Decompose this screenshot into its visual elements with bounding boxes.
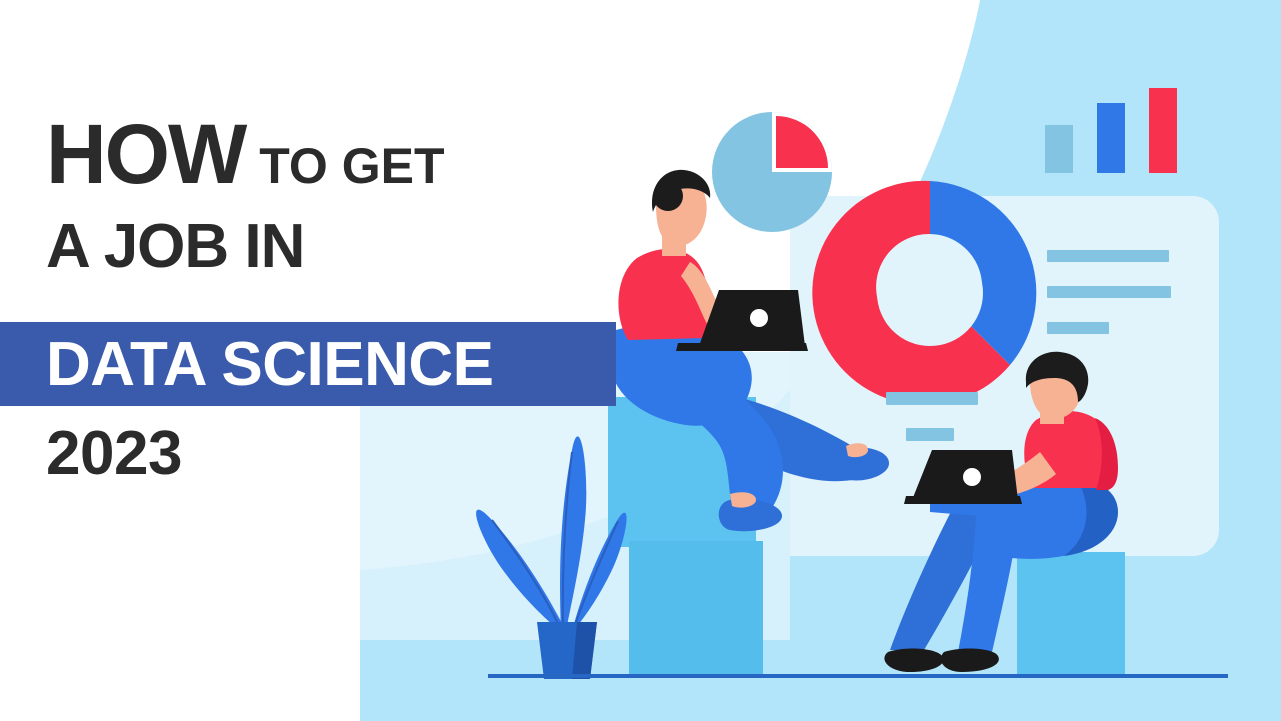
donut-chart — [812, 181, 1036, 405]
stat-line-2 — [906, 428, 954, 441]
woman-laptop-logo — [750, 309, 768, 327]
pedestal-block-right — [1017, 552, 1125, 677]
woman-laptop-base — [676, 343, 808, 351]
bar-3 — [1149, 88, 1177, 173]
pie-chart — [712, 112, 832, 232]
headline-line-3: DATA SCIENCE — [46, 331, 494, 399]
bar-1 — [1045, 125, 1073, 173]
card-line-1 — [1047, 250, 1169, 262]
bar-2 — [1097, 103, 1125, 173]
poster-canvas: HOWTO GET A JOB IN DATA SCIENCE 2023 — [0, 0, 1281, 721]
card-line-3 — [1047, 322, 1109, 334]
ground-line — [488, 674, 1228, 678]
pedestal-block-lower — [629, 541, 763, 677]
headline-year: 2023 — [46, 420, 182, 488]
stat-line-1 — [886, 392, 978, 405]
man-laptop-logo — [963, 468, 981, 486]
man-laptop-base — [904, 496, 1022, 504]
donut-hole — [877, 240, 983, 346]
card-line-2 — [1047, 286, 1171, 298]
woman-hair-bun — [653, 181, 683, 211]
